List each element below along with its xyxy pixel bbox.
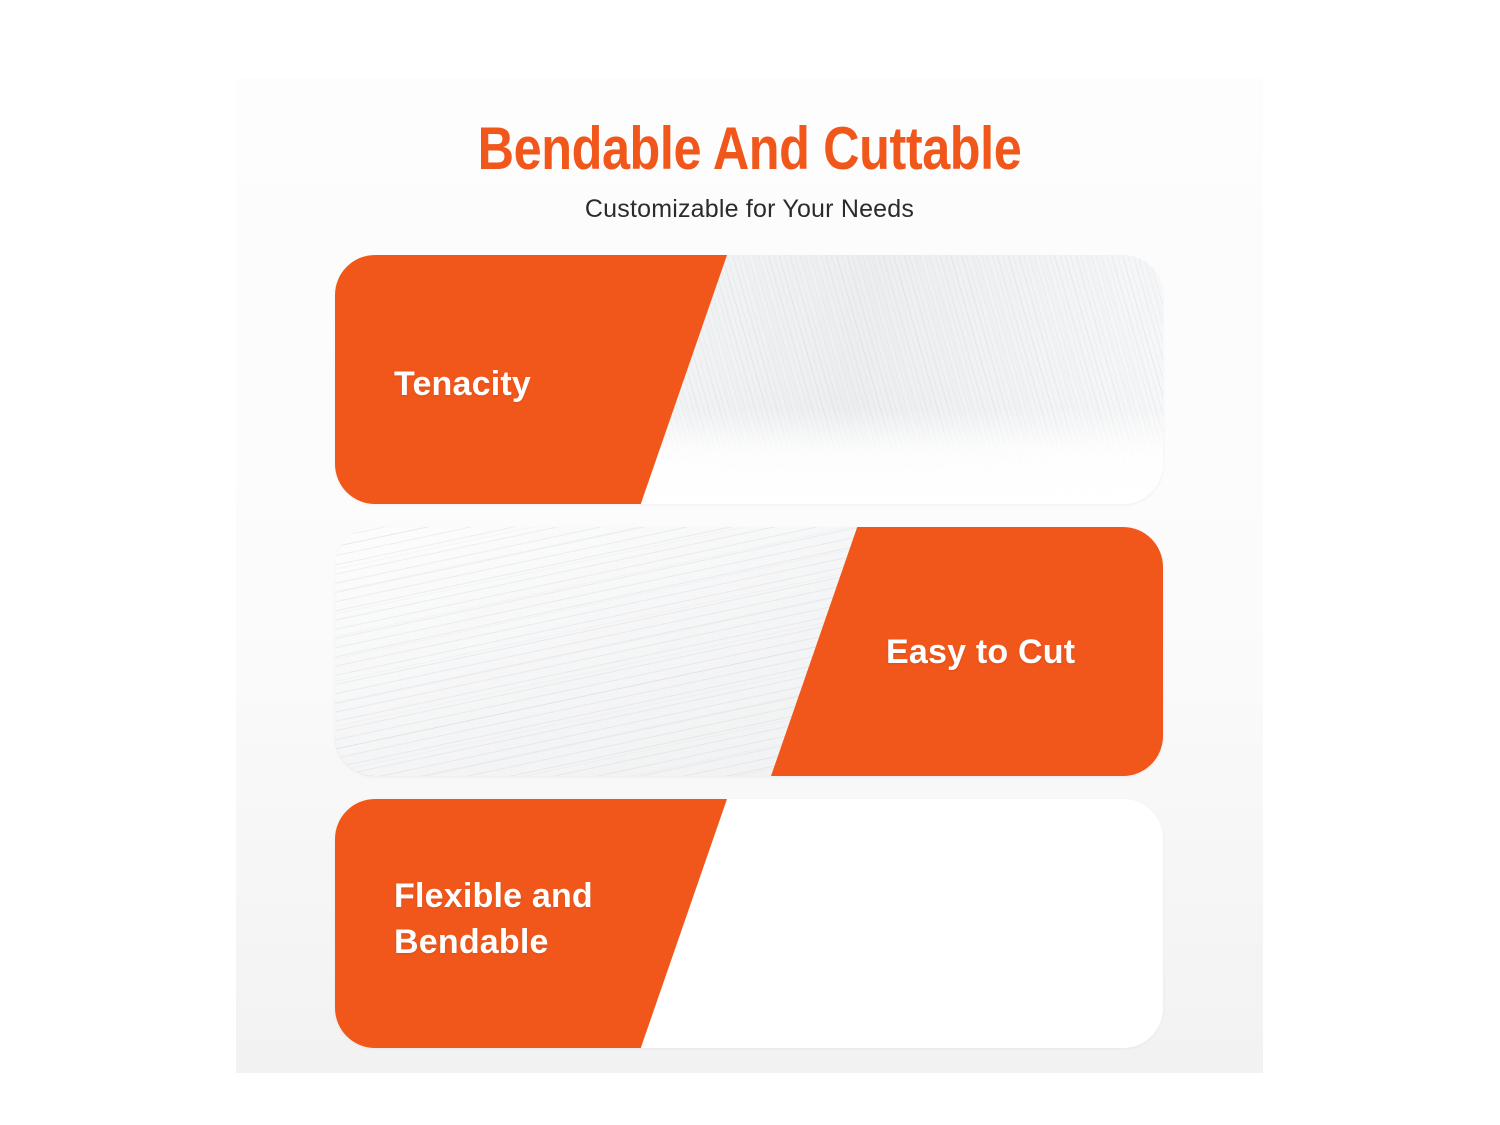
card-label-tenacity: Tenacity [394,361,531,407]
card-label-flexible-bendable: Flexible and Bendable [394,873,593,965]
header: Bendable And Cuttable Customizable for Y… [236,118,1263,224]
page-subtitle: Customizable for Your Needs [236,194,1263,224]
card-label-line-2: Bendable [394,919,593,965]
card-label-line-1: Flexible and [394,873,593,919]
page-title: Bendable And Cuttable [318,118,1181,180]
card-label-easy-to-cut: Easy to Cut [886,629,1075,675]
infographic-canvas: Bendable And Cuttable Customizable for Y… [0,0,1500,1125]
